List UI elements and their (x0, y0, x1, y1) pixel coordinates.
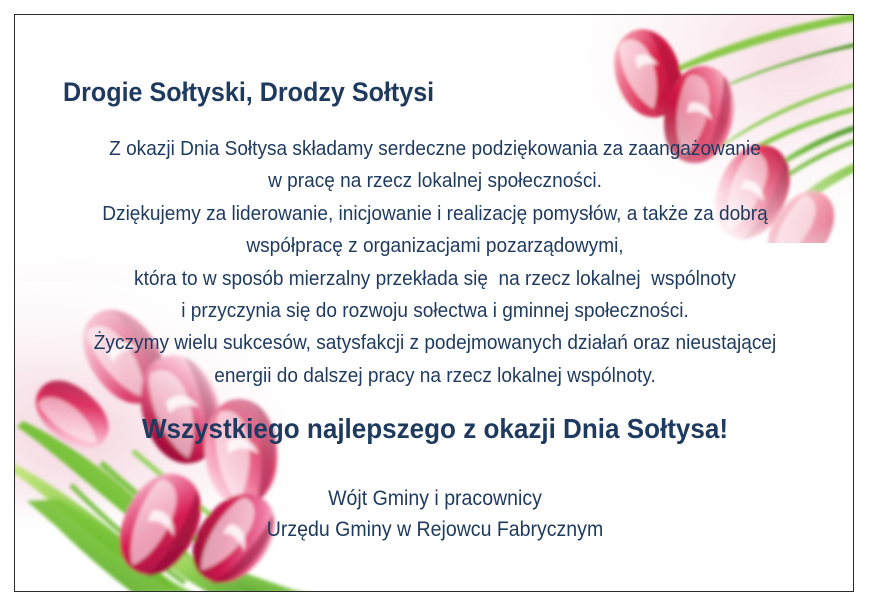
message-line: energii do dalszej pracy na rzecz lokaln… (44, 360, 825, 392)
message-line: i przyczynia się do rozwoju sołectwa i g… (44, 295, 825, 327)
greeting-heading: Drogie Sołtyski, Drodzy Sołtysi (63, 77, 434, 108)
greeting-card: Drogie Sołtyski, Drodzy Sołtysi Z okazji… (14, 14, 854, 592)
card-text-layer: Drogie Sołtyski, Drodzy Sołtysi Z okazji… (15, 15, 853, 591)
closing-wish-line: Wszystkiego najlepszego z okazji Dnia So… (44, 413, 825, 445)
message-line: Dziękujemy za liderowanie, inicjowanie i… (44, 198, 825, 230)
message-line: współpracę z organizacjami pozarządowymi… (44, 230, 825, 262)
signature-line: Urzędu Gminy w Rejowcu Fabrycznym (44, 514, 825, 545)
message-body: Z okazji Dnia Sołtysa składamy serdeczne… (15, 133, 854, 392)
message-line: w pracę na rzecz lokalnej społeczności. (44, 165, 825, 197)
signature-block: Wójt Gminy i pracownicy Urzędu Gminy w R… (15, 483, 854, 545)
message-line: Z okazji Dnia Sołtysa składamy serdeczne… (44, 133, 825, 165)
message-line: Życzymy wielu sukcesów, satysfakcji z po… (44, 327, 825, 359)
signature-line: Wójt Gminy i pracownicy (44, 483, 825, 514)
message-line: która to w sposób mierzalny przekłada si… (44, 263, 825, 295)
